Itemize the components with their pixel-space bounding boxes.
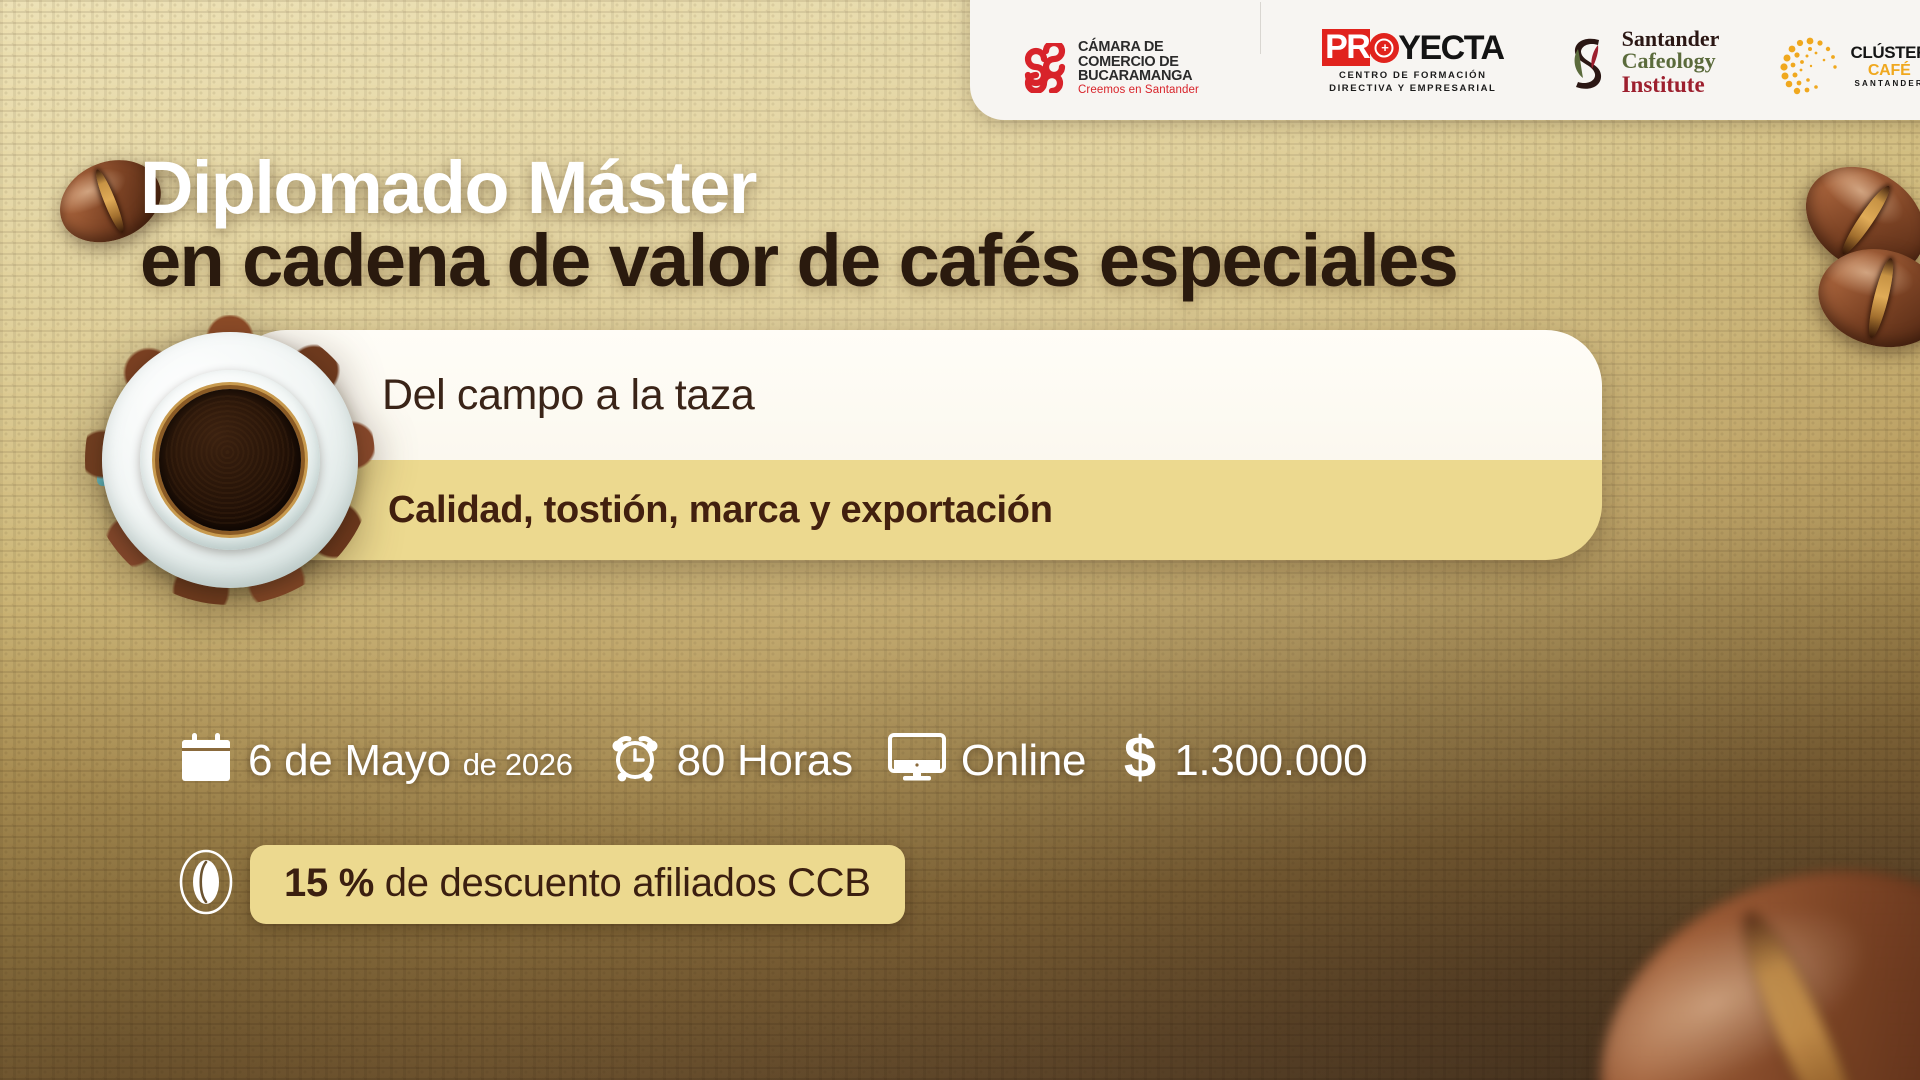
proyecta-target-icon — [1369, 33, 1399, 63]
title-line-2: en cadena de valor de cafés especiales — [140, 225, 1457, 296]
meta-item-modality: Online — [887, 732, 1086, 789]
cafeology-line2: Cafeology — [1622, 50, 1720, 72]
cafeology-wordmark: Santander Cafeology Institute — [1622, 28, 1720, 96]
meta-row: 6 de Mayo de 2026 80 Horas — [178, 728, 1401, 793]
discount-badge: 15 % de descuento afiliados CCB — [250, 845, 905, 924]
proyecta-yecta: YECTA — [1398, 31, 1503, 65]
promotional-banner: CÁMARA DE COMERCIO DE BUCARAMANGA Creemo… — [0, 0, 1920, 1080]
logo-camara-de-comercio-de-bucaramanga: CÁMARA DE COMERCIO DE BUCARAMANGA Creemo… — [1022, 40, 1199, 96]
discount-row: 15 % de descuento afiliados CCB — [178, 845, 905, 924]
cluster-line3: SANTANDER — [1850, 80, 1920, 89]
logo-santander-cafeology-institute: Santander Cafeology Institute — [1565, 28, 1720, 96]
cluster-line2: CAFÉ — [1850, 62, 1920, 79]
coffee-cup-image — [85, 315, 375, 605]
card-subtitle: Calidad, tostión, marca y exportación — [388, 489, 1053, 532]
meta-text-price: 1.300.000 — [1174, 736, 1367, 786]
page-title: Diplomado Máster en cadena de valor de c… — [140, 152, 1457, 296]
info-card: Del campo a la taza Calidad, tostión, ma… — [230, 330, 1602, 560]
monitor-icon — [887, 732, 947, 789]
coffee-bean-outline-icon — [178, 849, 234, 920]
ccb-line3: BUCARAMANGA — [1078, 69, 1199, 84]
card-top-section: Del campo a la taza — [230, 330, 1602, 460]
discount-percent: 15 % — [284, 861, 374, 905]
meta-item-duration: 80 Horas — [607, 730, 853, 791]
cluster-wordmark: CLÚSTER CAFÉ SANTANDER — [1850, 44, 1920, 88]
proyecta-wordmark: PR YECTA — [1322, 29, 1503, 66]
card-tagline: Del campo a la taza — [382, 371, 754, 420]
date-value: 6 de Mayo — [248, 736, 451, 785]
cafeology-line3: Institute — [1622, 73, 1720, 96]
meta-text-modality: Online — [961, 736, 1086, 786]
proyecta-pr: PR — [1322, 29, 1370, 66]
discount-label: de descuento afiliados CCB — [374, 861, 871, 905]
date-suffix: de 2026 — [463, 747, 573, 782]
svg-text:$: $ — [1124, 728, 1156, 788]
meta-item-price: $ 1.300.000 — [1120, 728, 1367, 793]
meta-text-date: 6 de Mayo de 2026 — [248, 736, 573, 786]
alarm-clock-icon — [607, 730, 663, 791]
coffee-liquid — [159, 389, 301, 531]
dollar-icon: $ — [1120, 728, 1160, 793]
ccb-tagline: Creemos en Santander — [1078, 85, 1199, 97]
proyecta-sub-line1: CENTRO DE FORMACIÓN — [1339, 70, 1487, 81]
discount-text: 15 % de descuento afiliados CCB — [284, 861, 871, 905]
proyecta-subtitle: CENTRO DE FORMACIÓN DIRECTIVA Y EMPRESAR… — [1329, 70, 1496, 96]
cafeology-line1: Santander — [1622, 28, 1720, 50]
logo-divider — [1260, 2, 1261, 54]
logo-cluster-cafe-santander: CLÚSTER CAFÉ SANTANDER — [1780, 36, 1920, 96]
meta-item-date: 6 de Mayo de 2026 — [178, 731, 573, 790]
ccb-line1: CÁMARA DE — [1078, 40, 1199, 55]
cluster-dots-icon — [1780, 36, 1840, 96]
ccb-line2: COMERCIO DE — [1078, 55, 1199, 70]
logo-proyecta: PR YECTA CENTRO DE FORMACIÓN DIRECTIVA Y… — [1322, 29, 1503, 96]
meta-text-duration: 80 Horas — [677, 736, 853, 786]
ccb-wordmark: CÁMARA DE COMERCIO DE BUCARAMANGA Creemo… — [1078, 40, 1199, 96]
proyecta-sub-line2: DIRECTIVA Y EMPRESARIAL — [1329, 83, 1496, 94]
cluster-line1: CLÚSTER — [1850, 44, 1920, 62]
card-bottom-section: Calidad, tostión, marca y exportación — [230, 460, 1602, 560]
title-line-1: Diplomado Máster — [140, 152, 1457, 223]
ccb-knot-icon — [1022, 43, 1068, 93]
calendar-icon — [178, 731, 234, 790]
cafeology-s-leaf-icon — [1565, 31, 1613, 93]
logo-bar: CÁMARA DE COMERCIO DE BUCARAMANGA Creemo… — [970, 0, 1920, 120]
